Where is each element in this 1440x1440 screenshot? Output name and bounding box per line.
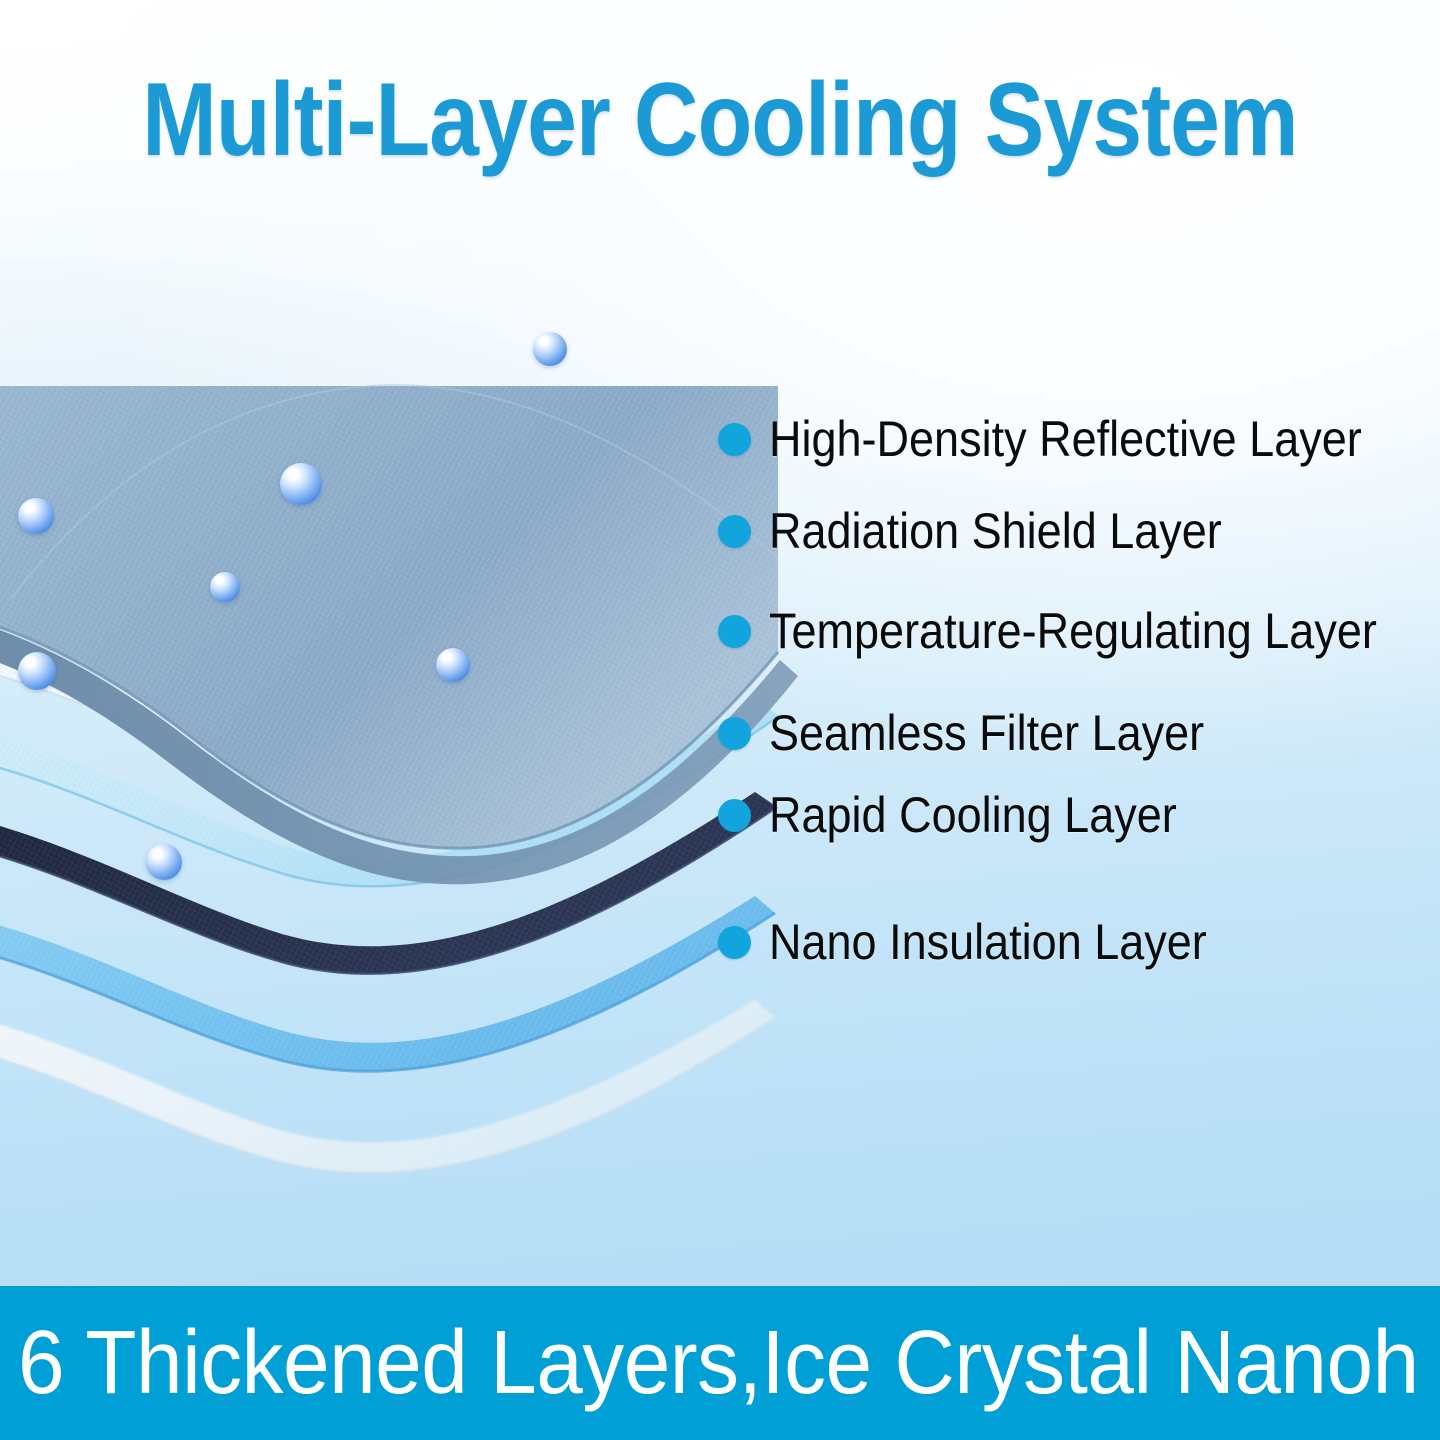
fabric-layer-rapid-cooling bbox=[0, 896, 775, 1071]
footer-banner: 6 Thickened Layers,Ice Crystal Nanoh bbox=[0, 1286, 1440, 1440]
list-item[interactable]: High-Density Reflective Layer bbox=[718, 414, 1428, 464]
list-item-label: Radiation Shield Layer bbox=[769, 506, 1222, 556]
list-item[interactable]: Rapid Cooling Layer bbox=[718, 790, 1222, 840]
list-item-label: Seamless Filter Layer bbox=[769, 708, 1204, 758]
bullet-dot-icon bbox=[718, 926, 751, 959]
list-item-label: Rapid Cooling Layer bbox=[769, 790, 1177, 840]
list-item[interactable]: Nano Insulation Layer bbox=[718, 917, 1255, 967]
list-item-label: Nano Insulation Layer bbox=[769, 917, 1207, 967]
bullet-dot-icon bbox=[718, 615, 751, 648]
list-item[interactable]: Temperature-Regulating Layer bbox=[718, 606, 1440, 656]
cooling-droplet-icon bbox=[436, 648, 470, 682]
footer-banner-text: 6 Thickened Layers,Ice Crystal Nanoh bbox=[18, 1318, 1419, 1408]
bullet-dot-icon bbox=[718, 799, 751, 832]
bullet-dot-icon bbox=[718, 423, 751, 456]
list-item[interactable]: Radiation Shield Layer bbox=[718, 506, 1272, 556]
list-item[interactable]: Seamless Filter Layer bbox=[718, 708, 1253, 758]
cooling-droplet-icon bbox=[146, 844, 182, 880]
list-item-label: High-Density Reflective Layer bbox=[769, 414, 1362, 464]
fabric-layer-nano-insulation bbox=[0, 999, 775, 1173]
cooling-droplet-icon bbox=[18, 498, 54, 534]
cooling-droplet-icon bbox=[18, 652, 56, 690]
infographic-page: Multi-Layer Cooling System bbox=[0, 0, 1440, 1440]
cooling-droplet-icon bbox=[533, 332, 567, 366]
bullet-dot-icon bbox=[718, 515, 751, 548]
cooling-droplet-icon bbox=[280, 463, 322, 505]
cooling-droplet-icon bbox=[210, 572, 240, 602]
bullet-dot-icon bbox=[718, 717, 751, 750]
list-item-label: Temperature-Regulating Layer bbox=[769, 606, 1377, 656]
page-title: Multi-Layer Cooling System bbox=[101, 68, 1339, 172]
